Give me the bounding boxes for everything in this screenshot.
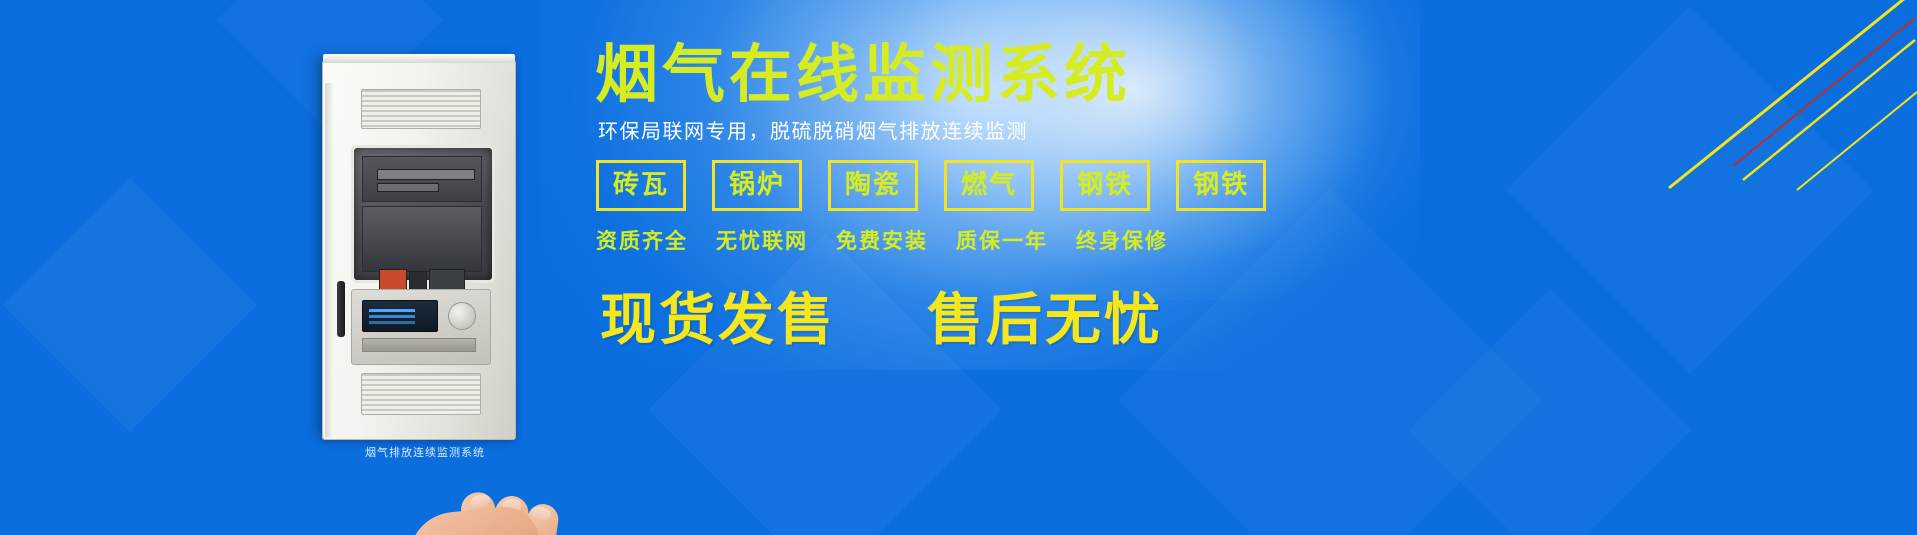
feature-item: 质保一年	[956, 225, 1048, 255]
panel-slot	[362, 338, 476, 352]
promo-banner: 烟气排放连续监测系统 烟气在线监测系统 环保局联网专用，脱硫脱硝烟气排放连续监测…	[0, 0, 1917, 535]
rack-label-strip	[377, 183, 439, 192]
cabinet-instrument-window	[351, 145, 495, 283]
banner-subtitle: 环保局联网专用，脱硫脱硝烟气排放连续监测	[598, 115, 1028, 144]
industry-tag[interactable]: 钢铁	[1176, 160, 1266, 211]
feature-item: 资质齐全	[596, 225, 688, 255]
feature-item: 终身保修	[1076, 225, 1168, 255]
feature-item: 无忧联网	[716, 225, 808, 255]
industry-tag[interactable]: 燃气	[944, 160, 1034, 211]
banner-title: 烟气在线监测系统	[595, 43, 1131, 106]
feature-list: 资质齐全 无忧联网 免费安装 质保一年 终身保修	[596, 225, 1168, 255]
feature-item: 免费安装	[836, 225, 928, 255]
display-screen	[362, 300, 438, 332]
instrument-rack-upper	[362, 156, 482, 202]
cabinet-body	[322, 60, 516, 440]
banner-slogan: 现货发售 售后无忧	[600, 275, 1163, 356]
rack-led-strip	[377, 169, 475, 180]
cabinet-top-edge	[323, 54, 515, 63]
industry-tag[interactable]: 钢铁	[1060, 160, 1150, 211]
cabinet-door-handle	[337, 281, 345, 337]
banner-text-content: 烟气在线监测系统 环保局联网专用，脱硫脱硝烟气排放连续监测 砖瓦 锅炉 陶瓷 燃…	[590, 0, 1690, 535]
industry-tag[interactable]: 锅炉	[712, 160, 802, 211]
vent-grille-top-icon	[361, 89, 481, 129]
product-caption: 烟气排放连续监测系统	[300, 444, 550, 460]
instrument-rack-lower	[362, 206, 482, 272]
industry-tag[interactable]: 陶瓷	[828, 160, 918, 211]
hand-holding-product	[408, 492, 568, 535]
diamond-shape	[3, 178, 258, 433]
slogan-left: 现货发售	[600, 288, 836, 353]
slogan-right: 售后无忧	[927, 288, 1163, 353]
control-panel	[351, 289, 491, 365]
industry-tag[interactable]: 砖瓦	[596, 160, 686, 211]
cabinet-side-edge	[325, 83, 333, 437]
industry-tag-list: 砖瓦 锅炉 陶瓷 燃气 钢铁 钢铁	[596, 160, 1266, 211]
product-image-cems-cabinet: 烟气排放连续监测系统	[300, 40, 550, 535]
control-knob-icon	[448, 302, 476, 330]
vent-grille-bottom-icon	[361, 373, 481, 415]
